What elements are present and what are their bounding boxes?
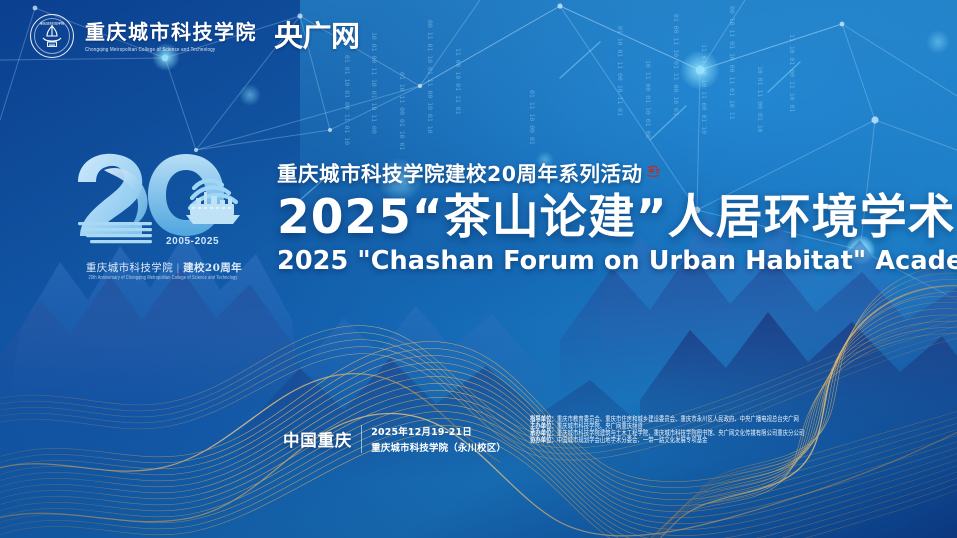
cnr-media-logo: 央广网: [274, 22, 360, 51]
organizer-line: 协办单位：中国城市规划学会山地学术分委会、一带一路文化发展专项基金: [530, 439, 804, 446]
organizers-block: 指导单位：重庆市教育委员会、重庆市住房和城乡建设委员会、重庆市永川区人民政府、中…: [530, 418, 804, 445]
emblem-caption: 重庆城市科技学院|建校20周年: [78, 260, 250, 275]
event-venue: 重庆城市科技学院（永川校区）: [371, 440, 506, 454]
emblem-years: 2005-2025: [166, 236, 219, 247]
title-kicker: 重庆城市科技学院建校20周年系列活动: [277, 163, 643, 187]
svg-text:重庆城市科技学院: 重庆城市科技学院: [40, 20, 64, 25]
svg-text:01 01 10 01 00 11 01 10: 01 01 10 01 00 11 01 10: [343, 55, 351, 145]
emblem-caption-right: 建校20周年: [183, 262, 242, 274]
poster-canvas: 01 01 10 01 00 11 01 10 10 01 00 11 10 0…: [0, 0, 957, 538]
title-kicker-row: 重庆城市科技学院建校20周年系列活动: [277, 163, 957, 187]
emblem-caption-separator: |: [176, 262, 180, 274]
event-location-block: 中国重庆 2025年12月19-21日 重庆城市科技学院（永川校区）: [283, 424, 506, 454]
title-main-cn: 2025“茶山论建”人居环境学术节: [277, 190, 957, 245]
emblem-caption-en: 20th Anniversary of Chongqing Metropolit…: [68, 274, 258, 281]
svg-text:01 00 11 10 01 11 00 10 01: 01 00 11 10 01 11 00 10 01: [672, 14, 680, 116]
anniversary-emblem: 2005-2025 重庆城市科技学院|建校20周年 20th Anniversa…: [68, 148, 258, 293]
svg-text:00 10 11 01 10 00 11 01 10 11: 00 10 11 01 10 00 11 01 10 11: [728, 6, 736, 120]
svg-text:10 01 00 11 10 01 10 11 00: 10 01 00 11 10 01 10 11 00: [370, 32, 378, 134]
organizer-label: 协办单位：: [530, 437, 557, 445]
emblem-caption-left: 重庆城市科技学院: [86, 262, 173, 274]
svg-text:11 00 10 01 11 01: 11 00 10 01 11 01: [454, 48, 462, 115]
university-seal-icon: 重庆城市科技学院: [30, 14, 74, 58]
svg-text:00 11 01 10 01 11 00 10 01 10: 00 11 01 10 01 11 00 10 01 10: [426, 20, 434, 134]
title-main-en: 2025 "Chashan Forum on Urban Habitat" Ac…: [277, 246, 957, 277]
svg-text:01 11 10 00 01: 01 11 10 00 01: [528, 90, 536, 145]
svg-text:10 01 11 00 01 10: 10 01 11 00 01 10: [756, 66, 764, 133]
svg-text:01 10 01 11 00 10 11 01: 01 10 01 11 00 10 11 01: [616, 26, 624, 116]
event-date: 2025年12月19-21日: [371, 424, 506, 438]
event-date-venue: 2025年12月19-21日 重庆城市科技学院（永川校区）: [371, 424, 506, 454]
red-seal-stamp-icon: [645, 164, 661, 179]
svg-text:11 01 00 10 11 00 01 10: 11 01 00 10 11 00 01 10: [700, 44, 708, 134]
svg-text:11 10 01 00 11 10 01: 11 10 01 00 11 10 01: [788, 34, 796, 112]
svg-text:10 11 00 01 10 01 00: 10 11 00 01 10 01 00: [644, 60, 652, 138]
header-logos: 重庆城市科技学院 重庆城市科技学院 Chongqing Metropolitan…: [30, 14, 360, 58]
university-name-en: Chongqing Metropolitan College of Scienc…: [85, 46, 257, 52]
event-city: 中国重庆: [283, 427, 352, 451]
university-name-cn: 重庆城市科技学院: [85, 21, 257, 43]
footer-divider: [361, 425, 362, 453]
svg-text:01 10 11 00 01 10 01: 01 10 11 00 01 10 01: [398, 72, 406, 150]
organizer-value: 中国城市规划学会山地学术分委会、一带一路文化发展专项基金: [557, 437, 708, 445]
university-wordmark: 重庆城市科技学院 Chongqing Metropolitan College …: [85, 21, 257, 50]
title-block: 重庆城市科技学院建校20周年系列活动 2025“茶山论建”人居环境学术节 202…: [277, 163, 957, 277]
